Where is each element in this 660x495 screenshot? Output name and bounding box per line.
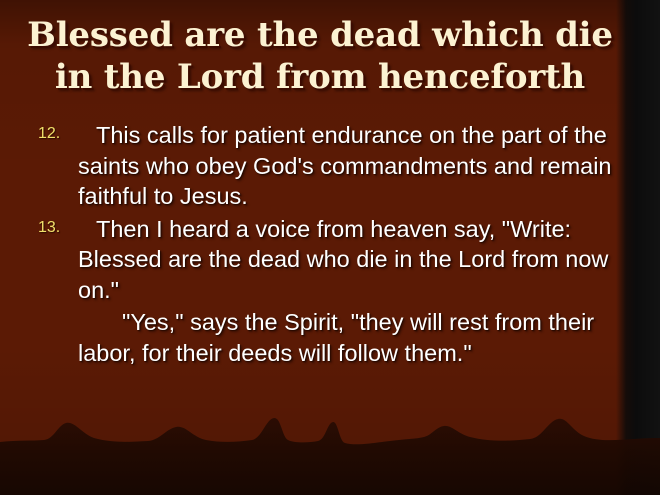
verse-number: 12.: [38, 125, 60, 143]
slide-title: Blessed are the dead which die in the Lo…: [18, 14, 622, 98]
title-line-1: Blessed are the dead which die: [18, 14, 622, 56]
slide-body: 12. This calls for patient endurance on …: [28, 120, 622, 368]
quote-paragraph: "Yes," says the Spirit, "they will rest …: [28, 307, 622, 368]
verse-text: Then I heard a voice from heaven say, "W…: [28, 214, 622, 306]
verse-item: 12. This calls for patient endurance on …: [28, 120, 622, 212]
verse-text: This calls for patient endurance on the …: [28, 120, 622, 212]
title-line-2: in the Lord from henceforth: [18, 56, 622, 98]
verse-number: 13.: [38, 219, 60, 237]
verse-item: 13. Then I heard a voice from heaven say…: [28, 214, 622, 306]
slide-canvas: Blessed are the dead which die in the Lo…: [0, 0, 660, 495]
